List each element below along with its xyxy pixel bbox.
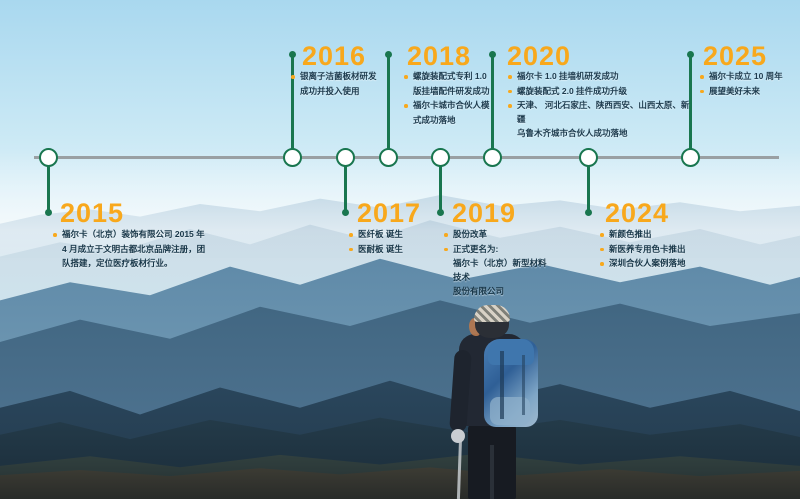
year-label-2019: 2019 xyxy=(452,200,516,227)
bullet-dot-icon xyxy=(700,90,704,94)
bullet-dot-icon xyxy=(349,233,353,237)
event-item-text: 医耐板 诞生 xyxy=(358,244,403,254)
bullet-dot-icon xyxy=(600,262,604,266)
event-item-text: 式成功落地 xyxy=(413,115,456,125)
stem-cap-2016 xyxy=(289,51,296,58)
event-item: 天津、 河北石家庄、陕西西安、山西太原、新疆 xyxy=(508,99,693,126)
event-item: 银离子洁菌板材研发 xyxy=(291,70,387,84)
event-item-text: 队搭建，定位医疗板材行业。 xyxy=(62,258,173,268)
event-item: 乌鲁木齐城市合伙人成功落地 xyxy=(508,127,693,141)
event-item-text: 银离子洁菌板材研发 xyxy=(300,71,377,81)
bullet-dot-icon xyxy=(508,104,512,108)
year-label-2017: 2017 xyxy=(357,200,421,227)
event-item-text: 展望美好未来 xyxy=(709,86,760,96)
event-item: 版挂墙配件研发成功 xyxy=(404,85,492,99)
backpack-strap-secondary xyxy=(522,355,525,415)
bullet-dot-icon xyxy=(291,75,295,79)
stem-2017 xyxy=(344,165,347,215)
stem-2019 xyxy=(439,165,442,215)
event-item-text: 天津、 河北石家庄、陕西西安、山西太原、新疆 xyxy=(517,100,689,124)
stem-cap-2019 xyxy=(437,209,444,216)
event-item-text: 福尔卡城市合伙人模 xyxy=(413,100,490,110)
bullet-dot-icon xyxy=(444,248,448,252)
event-body-2025: 福尔卡成立 10 周年展望美好未来 xyxy=(700,70,796,99)
event-item: 4 月成立于文明古都北京品牌注册，团 xyxy=(53,243,243,257)
timeline-node-2015[interactable] xyxy=(39,148,58,167)
timeline-node-2016[interactable] xyxy=(283,148,302,167)
bullet-dot-icon xyxy=(508,75,512,79)
stem-cap-2015 xyxy=(45,209,52,216)
bullet-dot-icon xyxy=(444,233,448,237)
timeline-axis xyxy=(34,156,779,159)
event-item-text: 螺旋装配式 2.0 挂件成功升级 xyxy=(517,86,627,96)
trekking-pole xyxy=(457,437,462,499)
event-item: 深圳合伙人案例落地 xyxy=(600,257,710,271)
hiker-leg-split xyxy=(490,445,494,499)
event-item: 福尔卡城市合伙人模 xyxy=(404,99,492,113)
bullet-dot-icon xyxy=(508,90,512,94)
event-item: 队搭建，定位医疗板材行业。 xyxy=(53,257,243,271)
backpack-strap xyxy=(500,351,504,419)
event-item-text: 福尔卡（北京）装饰有限公司 2015 年 xyxy=(62,229,205,239)
event-body-2015: 福尔卡（北京）装饰有限公司 2015 年4 月成立于文明古都北京品牌注册，团队搭… xyxy=(53,228,243,272)
year-label-2020: 2020 xyxy=(507,43,571,70)
year-label-2025: 2025 xyxy=(703,43,767,70)
event-item: 股份改革 xyxy=(444,228,549,242)
stem-cap-2020 xyxy=(489,51,496,58)
stem-2016 xyxy=(291,54,294,154)
event-item: 医耐板 诞生 xyxy=(349,243,437,257)
event-body-2018: 螺旋装配式专利 1.0版挂墙配件研发成功福尔卡城市合伙人模式成功落地 xyxy=(404,70,492,128)
bullet-dot-icon xyxy=(700,75,704,79)
event-item-text: 福尔卡 1.0 挂墙机研发成功 xyxy=(517,71,619,81)
event-body-2019: 股份改革正式更名为:福尔卡（北京）新型材料技术股份有限公司 xyxy=(444,228,549,300)
backpack-lid xyxy=(488,339,534,365)
timeline-node-2018[interactable] xyxy=(379,148,398,167)
event-item-text: 乌鲁木齐城市合伙人成功落地 xyxy=(517,128,628,138)
timeline-node-2025[interactable] xyxy=(681,148,700,167)
hiker-hand xyxy=(451,429,465,443)
event-item: 福尔卡（北京）装饰有限公司 2015 年 xyxy=(53,228,243,242)
hiker-beanie xyxy=(474,305,510,322)
bullet-dot-icon xyxy=(600,248,604,252)
stem-cap-2018 xyxy=(385,51,392,58)
event-item: 股份有限公司 xyxy=(444,285,549,299)
bullet-dot-icon xyxy=(600,233,604,237)
event-item-text: 正式更名为: xyxy=(453,244,498,254)
event-item: 螺旋装配式专利 1.0 xyxy=(404,70,492,84)
event-item: 福尔卡 1.0 挂墙机研发成功 xyxy=(508,70,693,84)
stem-cap-2024 xyxy=(585,209,592,216)
event-item: 展望美好未来 xyxy=(700,85,796,99)
event-item-text: 螺旋装配式专利 1.0 xyxy=(413,71,487,81)
timeline-node-2024[interactable] xyxy=(579,148,598,167)
event-item-text: 深圳合伙人案例落地 xyxy=(609,258,686,268)
event-item: 医纤板 诞生 xyxy=(349,228,437,242)
bullet-dot-icon xyxy=(349,248,353,252)
event-item: 新颜色推出 xyxy=(600,228,710,242)
year-label-2015: 2015 xyxy=(60,200,124,227)
event-item-text: 4 月成立于文明古都北京品牌注册，团 xyxy=(62,244,205,254)
stem-cap-2017 xyxy=(342,209,349,216)
year-label-2024: 2024 xyxy=(605,200,669,227)
bullet-dot-icon xyxy=(404,75,408,79)
event-item: 式成功落地 xyxy=(404,114,492,128)
event-body-2016: 银离子洁菌板材研发成功并投入使用 xyxy=(291,70,387,99)
year-label-2016: 2016 xyxy=(302,43,366,70)
event-item-text: 股份改革 xyxy=(453,229,487,239)
event-item-text: 新医养专用色卡推出 xyxy=(609,244,686,254)
event-item-text: 成功并投入使用 xyxy=(300,86,360,96)
event-item: 螺旋装配式 2.0 挂件成功升级 xyxy=(508,85,693,99)
event-item-text: 新颜色推出 xyxy=(609,229,652,239)
event-body-2024: 新颜色推出新医养专用色卡推出深圳合伙人案例落地 xyxy=(600,228,710,272)
event-body-2017: 医纤板 诞生医耐板 诞生 xyxy=(349,228,437,257)
event-body-2020: 福尔卡 1.0 挂墙机研发成功螺旋装配式 2.0 挂件成功升级天津、 河北石家庄… xyxy=(508,70,693,142)
event-item-text: 医纤板 诞生 xyxy=(358,229,403,239)
timeline-node-2020[interactable] xyxy=(483,148,502,167)
timeline-node-2019[interactable] xyxy=(431,148,450,167)
event-item: 正式更名为: xyxy=(444,243,549,257)
bullet-dot-icon xyxy=(53,233,57,237)
event-item: 福尔卡成立 10 周年 xyxy=(700,70,796,84)
stem-cap-2025 xyxy=(687,51,694,58)
event-item-text: 福尔卡（北京）新型材料技术 xyxy=(453,258,547,282)
event-item-text: 股份有限公司 xyxy=(453,286,504,296)
stem-2024 xyxy=(587,165,590,215)
event-item: 新医养专用色卡推出 xyxy=(600,243,710,257)
timeline-infographic: 2015 2016 2017 2018 2019 2020 2024 2025 … xyxy=(0,0,800,499)
event-item-text: 福尔卡成立 10 周年 xyxy=(709,71,783,81)
timeline-node-2017[interactable] xyxy=(336,148,355,167)
stem-2015 xyxy=(47,165,50,215)
bullet-dot-icon xyxy=(404,104,408,108)
hiker-figure xyxy=(430,305,560,499)
year-label-2018: 2018 xyxy=(407,43,471,70)
event-item-text: 版挂墙配件研发成功 xyxy=(413,86,490,96)
stem-2018 xyxy=(387,54,390,154)
event-item: 成功并投入使用 xyxy=(291,85,387,99)
event-item: 福尔卡（北京）新型材料技术 xyxy=(444,257,549,284)
